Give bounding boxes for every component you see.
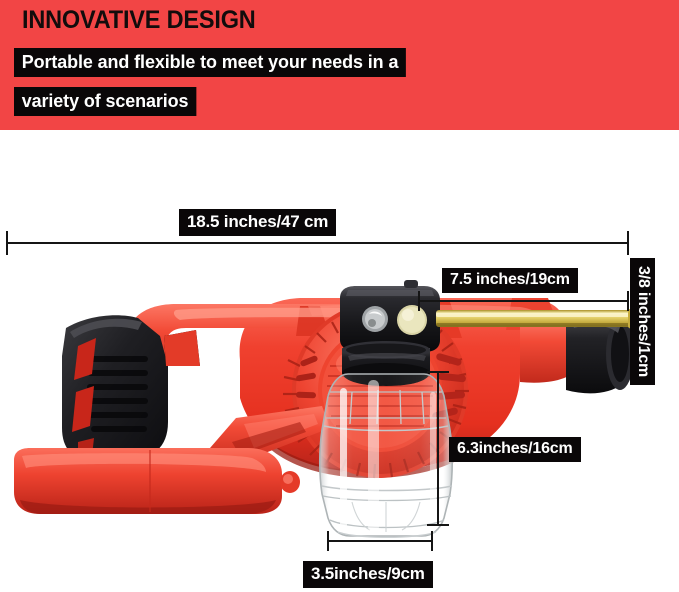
brass-wand <box>436 309 634 328</box>
dimension-line-bottle-height <box>437 372 439 525</box>
dimension-line-wand-length <box>419 300 628 302</box>
tick-wand-right <box>627 291 629 311</box>
tick-wand-left <box>418 291 420 311</box>
tick-bottle-height-bottom <box>427 524 449 526</box>
tick-bottle-height-top <box>427 371 449 373</box>
header-subtitle-line-1: Portable and flexible to meet your needs… <box>14 48 406 77</box>
tick-total-left <box>6 231 8 255</box>
label-wand-diameter: 3/8 inches/1cm <box>630 258 655 385</box>
sprayer-assembly <box>0 130 679 592</box>
tick-bottle-width-right <box>431 531 433 551</box>
label-total-length: 18.5 inches/47 cm <box>179 209 336 236</box>
tick-bottle-width-left <box>327 531 329 551</box>
dimension-line-total-length <box>7 242 628 244</box>
label-bottle-width: 3.5inches/9cm <box>303 561 433 588</box>
header-subtitle-line-2: variety of scenarios <box>14 87 196 116</box>
header-banner: INNOVATIVE DESIGN Portable and flexible … <box>0 0 679 130</box>
label-bottle-height: 6.3inches/16cm <box>449 437 581 462</box>
page-title: INNOVATIVE DESIGN <box>22 6 256 35</box>
tick-total-right <box>627 231 629 255</box>
dimension-line-bottle-width <box>328 540 432 542</box>
solution-bottle <box>320 374 453 537</box>
label-wand-length: 7.5 inches/19cm <box>442 268 578 293</box>
